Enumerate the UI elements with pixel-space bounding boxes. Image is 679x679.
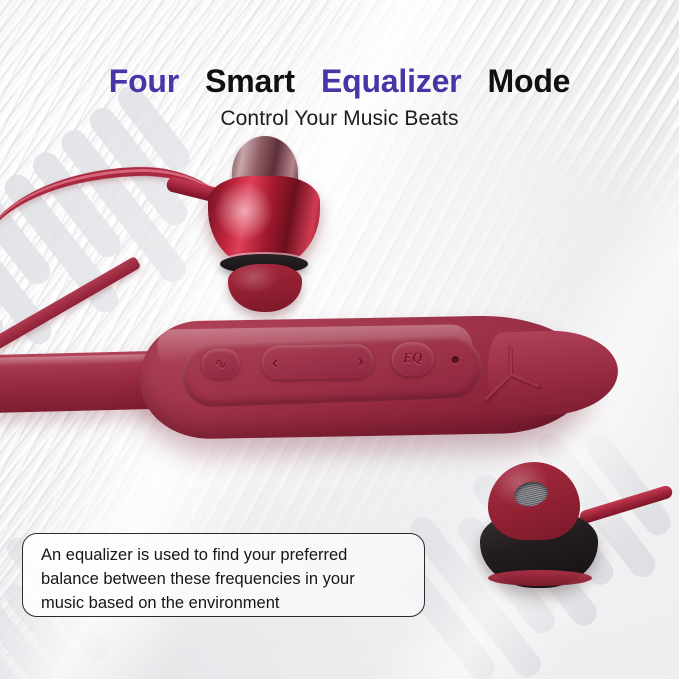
page-subtitle: Control Your Music Beats — [0, 107, 679, 131]
promo-image-canvas: Four Smart Equalizer Mode Control Your M… — [0, 0, 679, 679]
earbud-top-ear-tip — [228, 264, 302, 312]
decorative-red-bar — [0, 256, 141, 357]
caption-line-2: balance between these frequencies in you… — [41, 567, 408, 591]
three-point-star-emblem — [473, 337, 548, 412]
track-navigation-button[interactable]: ‹ › — [261, 344, 374, 380]
mic-pinhole-icon — [452, 356, 459, 363]
headline-word-mode: Mode — [488, 63, 571, 99]
control-module: ∿ ‹ › EQ — [139, 314, 591, 440]
headline-word-four: Four — [109, 63, 179, 99]
headline-space-2 — [304, 63, 313, 99]
caption-line-1: An equalizer is used to find your prefer… — [41, 543, 408, 567]
multifunction-wave-icon: ∿ — [214, 356, 227, 371]
eq-label: EQ — [403, 352, 423, 366]
earbud-bottom-right-stem — [578, 484, 674, 524]
chevron-right-icon[interactable]: › — [357, 352, 364, 371]
headline-space-1 — [188, 63, 197, 99]
headline-word-equalizer: Equalizer — [321, 63, 461, 99]
earbud-bottom-right-rim — [488, 570, 592, 586]
earbud-bottom-right — [482, 462, 632, 592]
headline-word-smart: Smart — [205, 63, 295, 99]
page-title: Four Smart Equalizer Mode — [0, 63, 679, 100]
multifunction-button[interactable]: ∿ — [201, 348, 240, 379]
caption-box: An equalizer is used to find your prefer… — [22, 533, 425, 617]
headline-space-3 — [470, 63, 479, 99]
caption-line-3: music based on the environment — [41, 591, 408, 615]
chevron-left-icon[interactable]: ‹ — [272, 353, 279, 372]
eq-button[interactable]: EQ — [391, 342, 434, 377]
earbud-top — [200, 136, 328, 308]
